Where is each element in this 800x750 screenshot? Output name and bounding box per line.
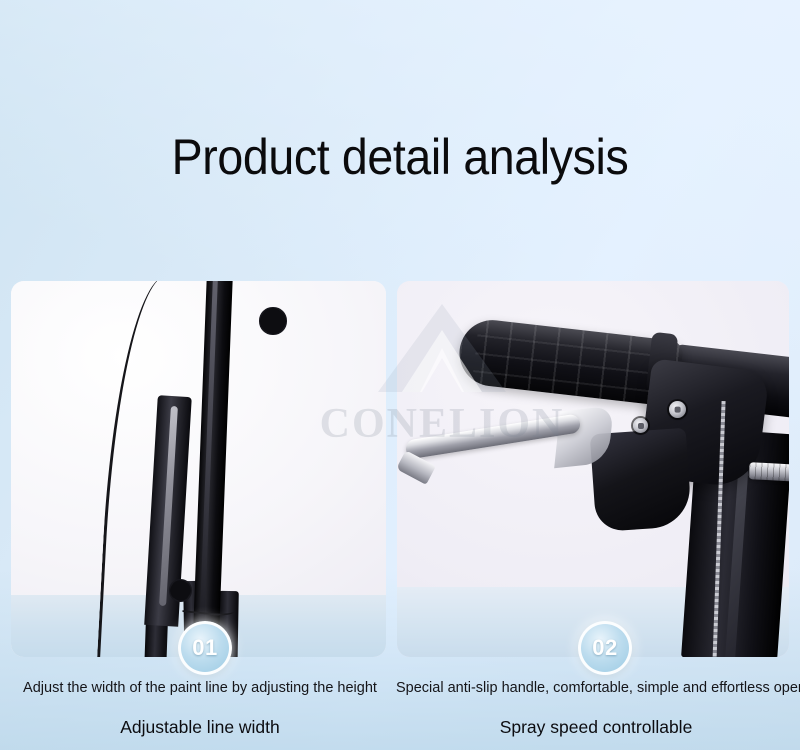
detail-panel-02[interactable] [397, 281, 789, 657]
caption-block-01: Adjust the width of the paint line by ad… [4, 678, 396, 739]
star-knob-icon [261, 309, 285, 333]
caption-title-01: Adjustable line width [4, 715, 396, 739]
product-photo-spray-speed-controllable [397, 281, 789, 657]
detail-panel-01[interactable] [11, 281, 386, 657]
product-detail-page: Product detail analysis [0, 0, 800, 750]
product-photo-adjustable-line-width [11, 281, 386, 657]
hex-bolt-icon [669, 401, 686, 418]
detail-panel-group [11, 281, 789, 657]
page-title: Product detail analysis [28, 126, 772, 188]
hex-bolt-icon [633, 418, 648, 433]
caption-subtitle-02: Special anti-slip handle, comfortable, s… [396, 678, 796, 698]
caption-block-02: Special anti-slip handle, comfortable, s… [396, 678, 796, 739]
caption-subtitle-01: Adjust the width of the paint line by ad… [4, 678, 396, 698]
step-badge-01: 01 [178, 621, 232, 675]
caption-title-02: Spray speed controllable [396, 715, 796, 739]
step-badge-02: 02 [578, 621, 632, 675]
